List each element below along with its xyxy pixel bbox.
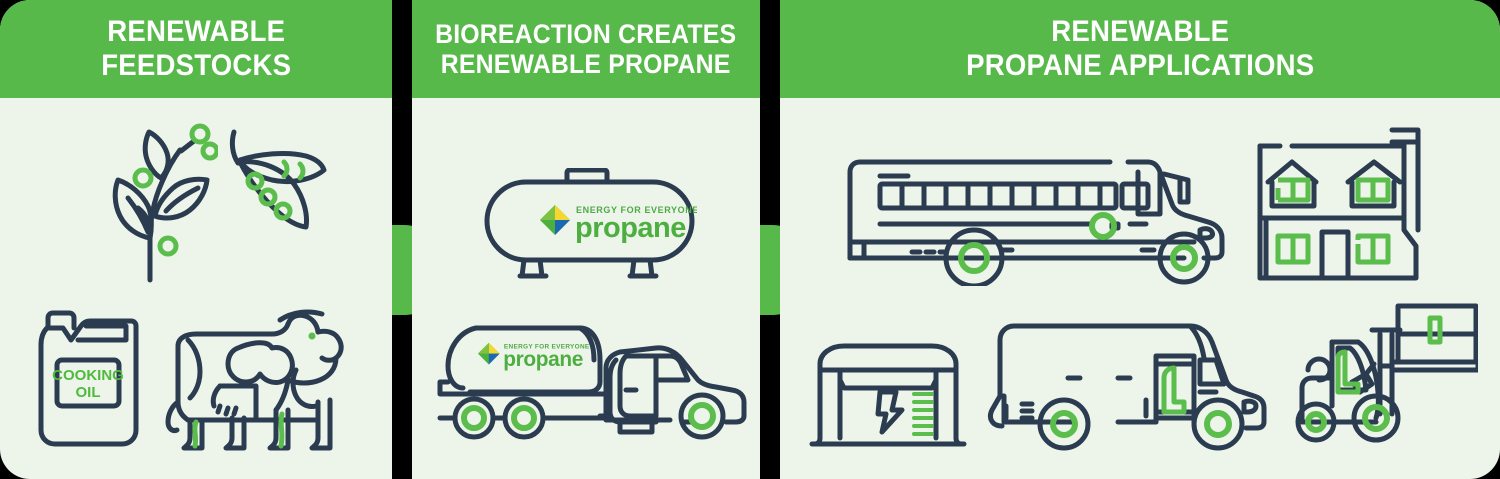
panel-applications: RENEWABLE PROPANE APPLICATIONS	[780, 0, 1500, 479]
school-bus-icon	[842, 146, 1232, 286]
diamond-logo	[478, 343, 500, 365]
cooking-oil-jug-icon: COOKING OIL	[34, 298, 146, 450]
panel-2-header: BIOREACTION CREATES RENEWABLE PROPANE	[412, 0, 760, 98]
delivery-truck-icon	[978, 318, 1268, 454]
infographic-board: RENEWABLE FEEDSTOCKS	[0, 0, 1500, 479]
cow-icon	[160, 306, 365, 454]
propane-logo: ENERGY FOR EVERYONE propane	[540, 205, 697, 244]
diamond-logo	[540, 205, 570, 235]
panel-2-body: ENERGY FOR EVERYONE propane	[412, 98, 760, 479]
generator-icon	[806, 334, 971, 450]
panel-bioreaction: BIOREACTION CREATES RENEWABLE PROPANE	[412, 0, 760, 479]
propane-tanker-truck-icon: ENERGY FOR EVERYONE propane	[430, 320, 750, 440]
propane-storage-tank-icon: ENERGY FOR EVERYONE propane	[482, 168, 697, 283]
panel-3-body	[780, 98, 1500, 479]
house-icon	[1252, 110, 1438, 288]
forklift-icon	[1288, 296, 1478, 448]
jug-label-line1: COOKING	[52, 367, 124, 384]
panel-3-title: RENEWABLE PROPANE APPLICATIONS	[966, 15, 1314, 82]
panel-1-title: RENEWABLE FEEDSTOCKS	[101, 15, 291, 82]
panel-1-body: COOKING OIL	[0, 98, 392, 479]
panel-1-header: RENEWABLE FEEDSTOCKS	[0, 0, 392, 98]
panel-renewable-feedstocks: RENEWABLE FEEDSTOCKS	[0, 0, 392, 479]
jug-label-line2: OIL	[76, 384, 101, 401]
panel-3-header: RENEWABLE PROPANE APPLICATIONS	[780, 0, 1500, 98]
pea-pod-icon	[228, 126, 328, 236]
logo-wordmark: propane	[503, 348, 583, 371]
plant-branch-icon	[88, 118, 218, 283]
panel-2-title: BIOREACTION CREATES RENEWABLE PROPANE	[435, 19, 736, 79]
propane-logo: ENERGY FOR EVERYONE propane	[478, 343, 590, 371]
logo-wordmark: propane	[575, 212, 686, 244]
